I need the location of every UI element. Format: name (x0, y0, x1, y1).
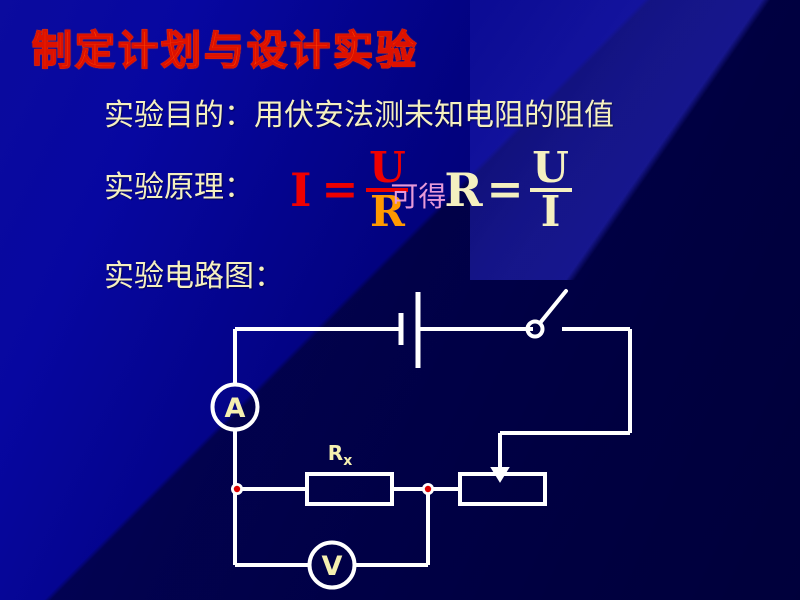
junction-dot-right (422, 483, 434, 495)
junction-dot-left (231, 483, 243, 495)
resistor-label-group: Rx (328, 441, 352, 469)
ammeter-label: A (225, 393, 246, 424)
slide-canvas: 制定计划与设计实验 实验目的：用伏安法测未知电阻的阻值 实验原理： I = U … (0, 0, 800, 600)
resistor-subscript: x (343, 453, 352, 469)
formula-connector-text: 可得 (390, 175, 446, 215)
junction-core-left (234, 486, 240, 492)
unknown-resistor-body (307, 474, 392, 504)
junction-core-right (425, 486, 431, 492)
resistor-label: R (328, 441, 343, 465)
circuit-diagram: A V Rx (0, 0, 800, 600)
voltmeter-symbol: V (310, 543, 355, 588)
switch-open-symbol (528, 291, 567, 337)
voltmeter-label: V (322, 551, 343, 582)
ammeter-symbol: A (213, 385, 258, 430)
switch-blade (540, 291, 566, 323)
battery-symbol (401, 292, 418, 368)
